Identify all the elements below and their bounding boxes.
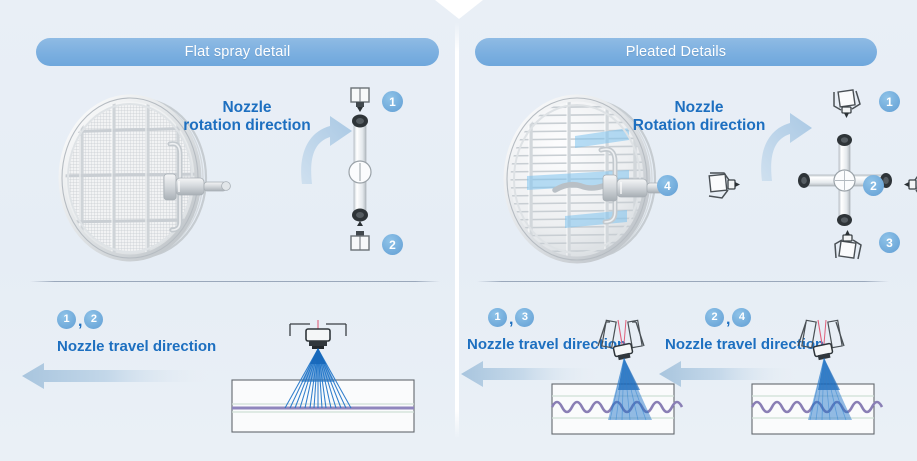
travel-badges-left: 1 , 2 xyxy=(57,310,103,329)
nozzle-position-4-icon xyxy=(707,170,743,200)
nozzle-assembly-flat xyxy=(340,86,380,246)
badge-position-2-left: 2 xyxy=(382,234,403,255)
spray-diagram-pleated-b xyxy=(748,312,878,440)
nozzle-position-1-icon xyxy=(830,88,864,122)
badge-position-2-right: 2 xyxy=(863,175,884,196)
travel-badges-a: 1 , 3 xyxy=(488,308,534,327)
nozzle-position-2-icon xyxy=(902,170,917,200)
rotation-label-line2: rotation direction xyxy=(182,117,312,135)
illustration-stage: Flat spray detail xyxy=(0,0,917,461)
badge-position-4-right: 4 xyxy=(657,175,678,196)
travel-badges-b: 2 , 4 xyxy=(705,308,751,327)
panel-pleated: Pleated Details xyxy=(459,0,917,461)
rotation-direction-label-left: Nozzle rotation direction xyxy=(182,99,312,135)
panel-header-flat-spray: Flat spray detail xyxy=(36,38,439,66)
nozzle-position-2 xyxy=(351,221,369,250)
rotation-label-line1: Nozzle xyxy=(624,99,774,117)
rotation-label-line1: Nozzle xyxy=(182,99,312,117)
panel-section-divider-right xyxy=(477,281,889,282)
travel-badge-1: 1 xyxy=(57,310,76,329)
badge-position-1-right: 1 xyxy=(879,91,900,112)
badge-position-3-right: 3 xyxy=(879,232,900,253)
travel-badge-3: 3 xyxy=(515,308,534,327)
panel-header-pleated: Pleated Details xyxy=(475,38,877,66)
badge-separator: , xyxy=(726,313,730,327)
badge-separator: , xyxy=(509,313,513,327)
panel-header-label: Flat spray detail xyxy=(185,44,291,60)
panel-header-label: Pleated Details xyxy=(626,44,727,60)
panel-flat-spray: Flat spray detail xyxy=(0,0,455,461)
rotation-direction-label-right: Nozzle Rotation direction xyxy=(624,99,774,135)
travel-badge-1: 1 xyxy=(488,308,507,327)
travel-direction-label-left: Nozzle travel direction xyxy=(57,338,216,355)
nozzle-position-3-icon xyxy=(830,228,864,262)
travel-badge-2: 2 xyxy=(705,308,724,327)
badge-position-1-left: 1 xyxy=(382,91,403,112)
rotation-label-line2: Rotation direction xyxy=(624,117,774,135)
panel-section-divider-left xyxy=(30,281,440,282)
travel-arrow-left xyxy=(20,361,210,393)
nozzle-position-1 xyxy=(351,88,369,112)
badge-separator: , xyxy=(78,315,82,329)
nozzle-assembly-cross xyxy=(791,125,911,235)
spray-diagram-flat xyxy=(228,312,418,440)
travel-badge-2: 2 xyxy=(84,310,103,329)
